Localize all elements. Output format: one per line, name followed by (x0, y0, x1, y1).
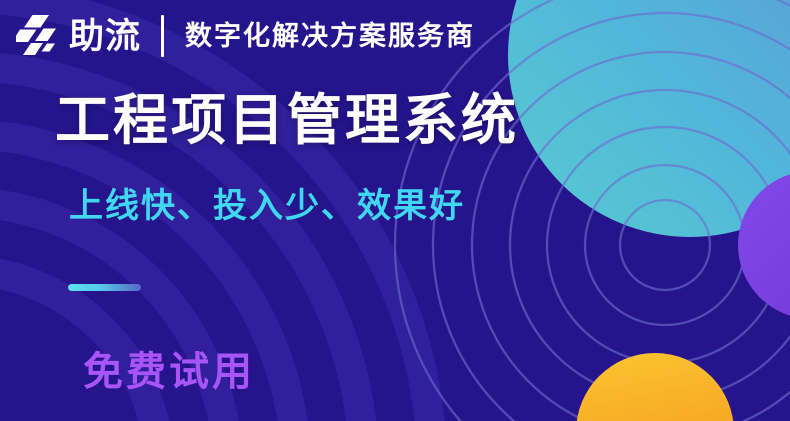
banner-header: 助流 数字化解决方案服务商 (16, 9, 475, 63)
hero-divider-rule (68, 284, 141, 291)
free-trial-cta[interactable]: 免费试用 (83, 350, 255, 394)
zhuliu-lightning-logo-icon (16, 13, 62, 59)
header-separator (161, 15, 164, 57)
promo-banner: 助流 数字化解决方案服务商 工程项目管理系统 上线快、投入少、效果好 免费试用 (0, 0, 790, 421)
banner-content: 助流 数字化解决方案服务商 工程项目管理系统 上线快、投入少、效果好 免费试用 (0, 0, 790, 421)
brand-tagline: 数字化解决方案服务商 (185, 23, 475, 50)
hero-subtitle: 上线快、投入少、效果好 (69, 188, 465, 225)
brand-name: 助流 (69, 19, 141, 54)
hero-title: 工程项目管理系统 (55, 92, 519, 150)
